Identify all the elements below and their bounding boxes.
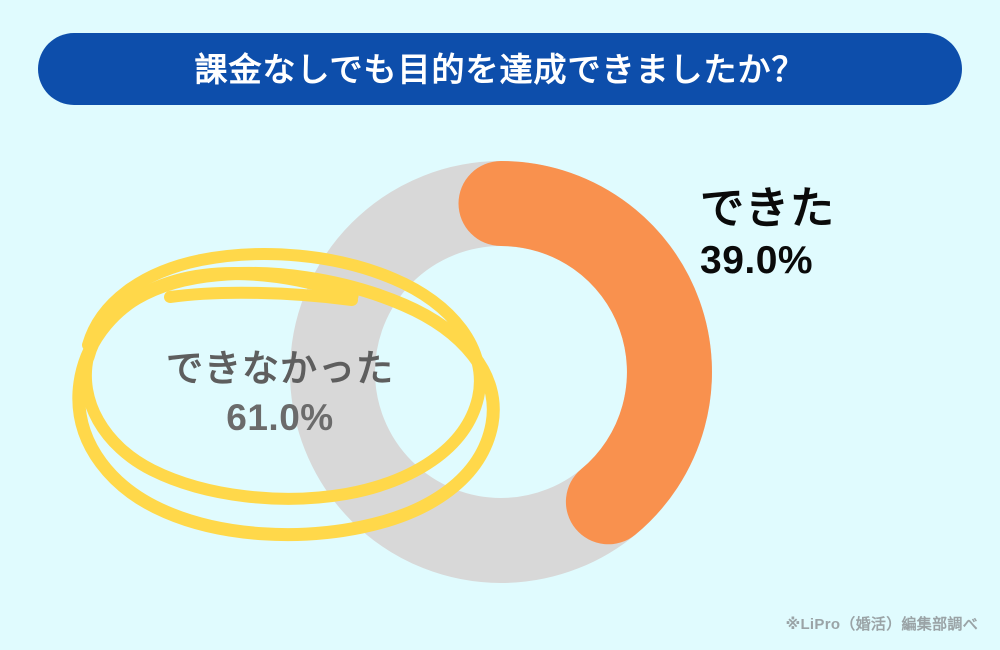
slice-label-dekinakatta: できなかった 61.0% bbox=[130, 348, 430, 439]
slice-label-dekita-value: 39.0% bbox=[700, 239, 970, 283]
slice-label-dekinakatta-name: できなかった bbox=[130, 348, 430, 389]
source-note: ※LiPro（婚活）編集部調べ bbox=[786, 613, 978, 634]
donut-chart: できた 39.0% できなかった 61.0% bbox=[0, 0, 1000, 650]
slice-label-dekita-name: できた bbox=[700, 184, 970, 233]
slice-label-dekinakatta-value: 61.0% bbox=[130, 397, 430, 438]
infographic-page: 課金なしでも目的を達成できましたか？ できた bbox=[0, 0, 1000, 650]
donut-slice-dekita bbox=[501, 204, 669, 502]
slice-label-dekita: できた 39.0% bbox=[700, 184, 970, 283]
donut-chart-svg bbox=[0, 0, 1000, 650]
